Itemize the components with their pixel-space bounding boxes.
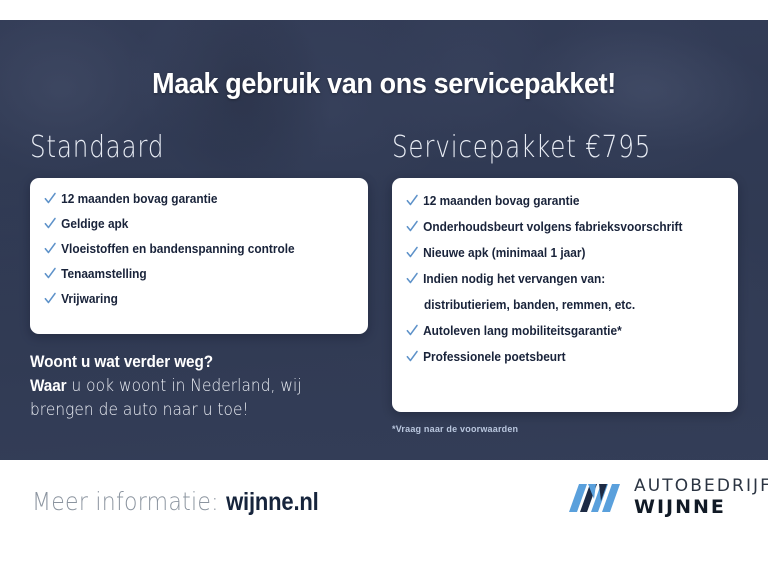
column-title-standaard: Standaard [30, 130, 164, 165]
list-item-label: Nieuwe apk (minimaal 1 jaar) [423, 246, 585, 260]
list-item: Geldige apk [44, 217, 337, 231]
list-item: Vloeistoffen en bandenspanning controle [44, 242, 337, 256]
servicepakket-feature-list: 12 maanden bovag garantie Onderhoudsbeur… [392, 178, 738, 388]
list-item-label: Indien nodig het vervangen van: [423, 272, 605, 286]
promo-line-2-rest: u ook woont in Nederland, wij [66, 376, 301, 396]
terms-footnote: *Vraag naar de voorwaarden [392, 424, 518, 434]
list-item: Nieuwe apk (minimaal 1 jaar) [406, 246, 706, 260]
list-item-label: Professionele poetsbeurt [423, 350, 566, 364]
list-item: Autoleven lang mobiliteitsgarantie* [406, 324, 706, 338]
list-item: Tenaamstelling [44, 267, 337, 281]
list-item-label: Vloeistoffen en bandenspanning controle [61, 242, 295, 256]
list-item-label: Tenaamstelling [61, 267, 147, 281]
list-item: Onderhoudsbeurt volgens fabrieksvoorschr… [406, 220, 706, 234]
check-icon [406, 220, 418, 233]
autobedrijf-wijnne-logo[interactable]: AUTOBEDRIJF WIJNNE [567, 478, 768, 517]
check-icon [44, 217, 56, 230]
list-item-label: Geldige apk [61, 217, 128, 231]
list-item: Indien nodig het vervangen van: [406, 272, 706, 286]
column-title-servicepakket: Servicepakket €795 [392, 130, 651, 165]
check-icon [406, 350, 418, 363]
promo-heading: Woont u wat verder weg? [30, 350, 327, 374]
check-icon [44, 192, 56, 205]
more-info-text: Meer informatie: wijnne.nl [32, 487, 319, 517]
list-item-label: 12 maanden bovag garantie [61, 192, 217, 206]
list-item-label: distributieriem, banden, remmen, etc. [424, 298, 635, 312]
list-item-label: Vrijwaring [61, 292, 118, 306]
promo-line-2-strong: Waar [30, 376, 66, 395]
list-item: 12 maanden bovag garantie [406, 194, 706, 208]
standaard-feature-list: 12 maanden bovag garantie Geldige apk Vl… [30, 178, 368, 318]
servicepakket-feature-card: 12 maanden bovag garantie Onderhoudsbeur… [392, 178, 738, 412]
website-link[interactable]: wijnne.nl [226, 488, 319, 516]
list-item: Vrijwaring [44, 292, 337, 306]
more-info-label: Meer informatie: [32, 487, 226, 516]
promotional-poster: Maak gebruik van ons servicepakket! Stan… [0, 0, 768, 576]
list-item-label: 12 maanden bovag garantie [423, 194, 579, 208]
poster-headline: Maak gebruik van ons servicepakket! [27, 68, 741, 101]
check-icon [406, 246, 418, 259]
check-icon [44, 267, 56, 280]
check-icon [406, 194, 418, 207]
logo-word-wijnne: WIJNNE [634, 498, 768, 517]
list-item-label: Onderhoudsbeurt volgens fabrieksvoorschr… [423, 220, 682, 234]
delivery-promo-text: Woont u wat verder weg? Waar u ook woont… [30, 350, 327, 422]
standaard-feature-card: 12 maanden bovag garantie Geldige apk Vl… [30, 178, 368, 334]
promo-line-2: Waar u ook woont in Nederland, wij [30, 374, 327, 398]
check-icon [406, 324, 418, 337]
promo-line-3: brengen de auto naar u toe! [30, 398, 327, 422]
list-item: 12 maanden bovag garantie [44, 192, 337, 206]
check-icon [44, 292, 56, 305]
logo-wordmark: AUTOBEDRIJF WIJNNE [634, 478, 768, 517]
check-icon [406, 272, 418, 285]
check-icon [44, 242, 56, 255]
list-item-continuation: distributieriem, banden, remmen, etc. [424, 298, 707, 312]
list-item: Professionele poetsbeurt [406, 350, 706, 364]
list-item-label: Autoleven lang mobiliteitsgarantie* [423, 324, 622, 338]
logo-word-autobedrijf: AUTOBEDRIJF [634, 478, 768, 495]
wijnne-w-mark-icon [567, 482, 623, 514]
